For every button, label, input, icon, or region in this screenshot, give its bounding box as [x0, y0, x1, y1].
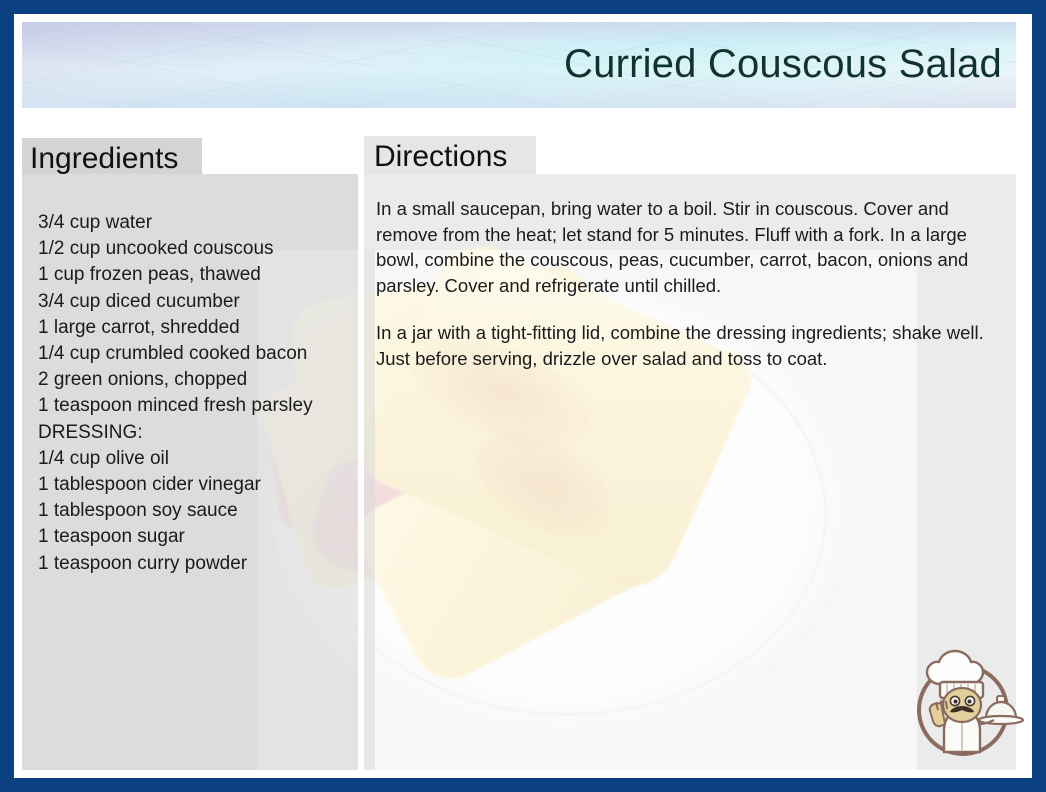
directions-paragraph: In a small saucepan, bring water to a bo…: [376, 196, 1010, 298]
ingredient-item: 3/4 cup diced cucumber: [38, 289, 313, 315]
ingredient-item: DRESSING:: [38, 420, 313, 446]
ingredient-item: 1 tablespoon cider vinegar: [38, 472, 313, 498]
chef-head: [943, 688, 981, 722]
ingredient-item: 1 teaspoon minced fresh parsley: [38, 393, 313, 419]
recipe-card: Curried Couscous Salad Ingredients Direc…: [0, 0, 1046, 792]
ingredient-item: 1 cup frozen peas, thawed: [38, 262, 313, 288]
directions-heading: Directions: [374, 140, 507, 174]
ingredient-item: 1 teaspoon sugar: [38, 524, 313, 550]
ingredient-item: 2 green onions, chopped: [38, 367, 313, 393]
ingredient-list: 3/4 cup water1/2 cup uncooked couscous1 …: [38, 210, 313, 577]
chef-logo: [900, 640, 1026, 766]
card-inner-matting: Curried Couscous Salad Ingredients Direc…: [14, 14, 1032, 778]
directions-paragraph: In a jar with a tight-fitting lid, combi…: [376, 320, 1010, 371]
ingredient-item: 1 teaspoon curry powder: [38, 551, 313, 577]
ingredient-item: 3/4 cup water: [38, 210, 313, 236]
column-divider: [358, 174, 364, 770]
ingredient-item: 1 large carrot, shredded: [38, 315, 313, 341]
ingredient-item: 1/4 cup olive oil: [38, 446, 313, 472]
header-banner: Curried Couscous Salad: [22, 22, 1016, 108]
cloche-icon: [979, 696, 1023, 724]
ingredient-item: 1/2 cup uncooked couscous: [38, 236, 313, 262]
ingredient-item: 1 tablespoon soy sauce: [38, 498, 313, 524]
page-title: Curried Couscous Salad: [564, 43, 1002, 85]
ingredients-panel: 3/4 cup water1/2 cup uncooked couscous1 …: [22, 174, 358, 770]
directions-body: In a small saucepan, bring water to a bo…: [376, 196, 1010, 394]
ingredients-heading: Ingredients: [30, 142, 178, 176]
ingredient-item: 1/4 cup crumbled cooked bacon: [38, 341, 313, 367]
